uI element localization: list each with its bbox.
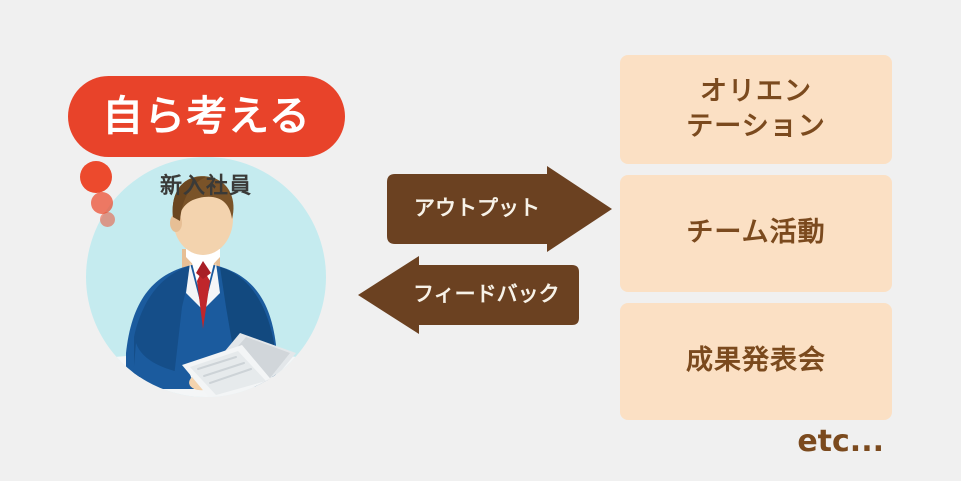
activity-team-label: チーム活動 <box>686 216 825 251</box>
activity-presentation-label: 成果発表会 <box>686 344 826 379</box>
activity-list: オリエン テーション チーム活動 成果発表会 <box>620 55 892 431</box>
arrow-feedback-label: フィードバック <box>413 284 560 305</box>
etc-label: etc... <box>620 424 892 459</box>
activity-orientation-label: オリエン テーション <box>686 75 825 144</box>
activity-orientation-line-1: オリエン <box>686 75 825 110</box>
diagram-canvas: 新入社員 自ら考える アウトプット フィードバック オリエン テーション <box>0 0 961 481</box>
newcomer-caption: 新入社員 <box>70 168 342 200</box>
think-for-yourself-badge: 自ら考える <box>68 76 345 157</box>
activity-team-box[interactable]: チーム活動 <box>620 175 892 292</box>
arrow-output-label: アウトプット <box>414 198 540 219</box>
activity-team-line-1: チーム活動 <box>686 216 825 251</box>
activity-orientation-box[interactable]: オリエン テーション <box>620 55 892 164</box>
think-for-yourself-badge-label: 自ら考える <box>102 96 311 137</box>
activity-presentation-box[interactable]: 成果発表会 <box>620 303 892 420</box>
activity-orientation-line-2: テーション <box>686 110 825 145</box>
activity-presentation-line-1: 成果発表会 <box>686 344 826 379</box>
